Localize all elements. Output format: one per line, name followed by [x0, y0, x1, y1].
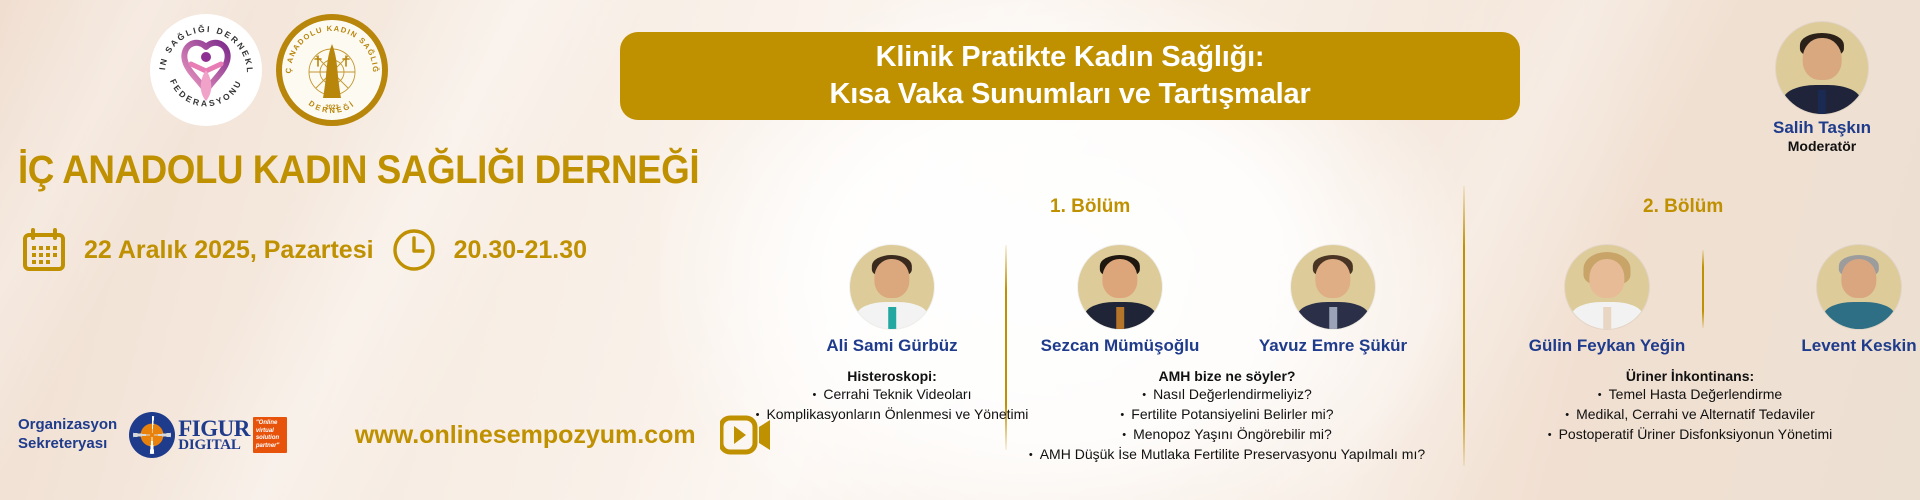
speaker-name: Sezcan Mümüşoğlu [1040, 336, 1200, 356]
speaker-name: Yavuz Emre Şükür [1253, 336, 1413, 356]
compass-icon [129, 412, 175, 458]
association-logo-icon: İÇ ANADOLU KADIN SAĞLIĞI DERNEĞİ 2023 [282, 20, 382, 120]
speaker-name: Levent Keskin [1779, 336, 1920, 356]
topic-item: Temel Hasta Değerlendirme [1470, 385, 1910, 405]
event-time: 20.30-21.30 [454, 236, 587, 265]
divider-2 [1463, 186, 1465, 466]
speaker-card: Sezcan Mümüşoğlu [1040, 245, 1200, 356]
federation-logo: KADIN SAĞLIĞI DERNEKLERİ FEDERASYONU [150, 14, 262, 126]
organizer-label: Organizasyon Sekreteryası [18, 416, 117, 454]
event-date: 22 Aralık 2025, Pazartesi [84, 236, 374, 265]
topic-list: Temel Hasta Değerlendirme Medikal, Cerra… [1470, 385, 1910, 445]
moderator-role: Moderatör [1742, 138, 1902, 154]
speaker-name: Gülin Feykan Yeğin [1527, 336, 1687, 356]
event-banner: KADIN SAĞLIĞI DERNEKLERİ FEDERASYONU [0, 0, 1920, 500]
moderator-name: Salih Taşkın [1742, 118, 1902, 138]
organizer-line-1: Organizasyon [18, 416, 117, 435]
svg-text:2023: 2023 [325, 105, 339, 111]
federation-logo-icon: KADIN SAĞLIĞI DERNEKLERİ FEDERASYONU [151, 15, 261, 125]
speaker-card: Ali Sami Gürbüz [812, 245, 972, 356]
figur-wordmark: FIGUR DIGITAL [178, 418, 250, 453]
figur-tagline-line-2: virtual [256, 428, 284, 436]
event-title-line-1: Klinik Pratikte Kadın Sağlığı: [876, 39, 1265, 76]
event-title-banner: Klinik Pratikte Kadın Sağlığı: Kısa Vaka… [620, 32, 1520, 120]
topic-item: Medikal, Cerrahi ve Alternatif Tedaviler [1470, 405, 1910, 425]
figur-wordmark-line-1: FIGUR [178, 418, 250, 439]
footer-bar: Organizasyon Sekreteryası FIGUR DIGITAL … [18, 412, 772, 458]
figur-tagline-line-1: "Online [256, 420, 284, 428]
figur-wordmark-line-2: DIGITAL [178, 439, 250, 453]
association-logo: İÇ ANADOLU KADIN SAĞLIĞI DERNEĞİ 2023 [276, 14, 388, 126]
figur-digital-logo: FIGUR DIGITAL "Online virtual solution p… [129, 412, 287, 458]
topic-item: Nasıl Değerlendirmeliyiz? [1010, 385, 1444, 405]
moderator-avatar [1776, 22, 1868, 114]
speaker-avatar [1291, 245, 1375, 329]
section-label-1: 1. Bölüm [1050, 196, 1130, 218]
organizer-line-2: Sekreteryası [18, 435, 117, 454]
topic-item: Menopoz Yaşını Öngörebilir mi? [1010, 425, 1444, 445]
topic-item: Postoperatif Üriner Disfonksiyonun Yönet… [1470, 425, 1910, 445]
speaker-avatar [1817, 245, 1901, 329]
speaker-card: Gülin Feykan Yeğin [1527, 245, 1687, 356]
speaker-avatar [850, 245, 934, 329]
figur-tagline-line-3: solution [256, 435, 284, 443]
topic-title: AMH bize ne söyler? [1010, 368, 1444, 384]
topic-item: AMH Düşük İse Mutlaka Fertilite Preserva… [1010, 445, 1444, 465]
divider-3 [1702, 250, 1704, 328]
topic-block: AMH bize ne söyler? Nasıl Değerlendirmel… [1010, 368, 1444, 465]
figur-tagline: "Online virtual solution partner" [253, 417, 287, 453]
topic-title: Üriner İnkontinans: [1470, 368, 1910, 384]
section-label-2: 2. Bölüm [1643, 196, 1723, 218]
topic-list: Nasıl Değerlendirmeliyiz? Fertilite Pota… [1010, 385, 1444, 465]
association-title: İÇ ANADOLU KADIN SAĞLIĞI DERNEĞİ [18, 148, 699, 193]
figur-tagline-line-4: partner" [256, 443, 284, 451]
event-datetime: 22 Aralık 2025, Pazartesi 20.30-21.30 [22, 228, 587, 272]
logo-group: KADIN SAĞLIĞI DERNEKLERİ FEDERASYONU [150, 14, 388, 126]
topic-item: Fertilite Potansiyelini Belirler mi? [1010, 405, 1444, 425]
topic-block: Üriner İnkontinans: Temel Hasta Değerlen… [1470, 368, 1910, 445]
speaker-card: Levent Keskin [1779, 245, 1920, 356]
speaker-card: Yavuz Emre Şükür [1253, 245, 1413, 356]
event-title-line-2: Kısa Vaka Sunumları ve Tartışmalar [829, 76, 1310, 113]
clock-icon [392, 228, 436, 272]
calendar-icon [22, 228, 66, 272]
speaker-avatar [1078, 245, 1162, 329]
speaker-avatar [1565, 245, 1649, 329]
speaker-name: Ali Sami Gürbüz [812, 336, 972, 356]
website-link[interactable]: www.onlinesempozyum.com [355, 421, 696, 450]
moderator-card: Salih Taşkın Moderatör [1742, 22, 1902, 154]
